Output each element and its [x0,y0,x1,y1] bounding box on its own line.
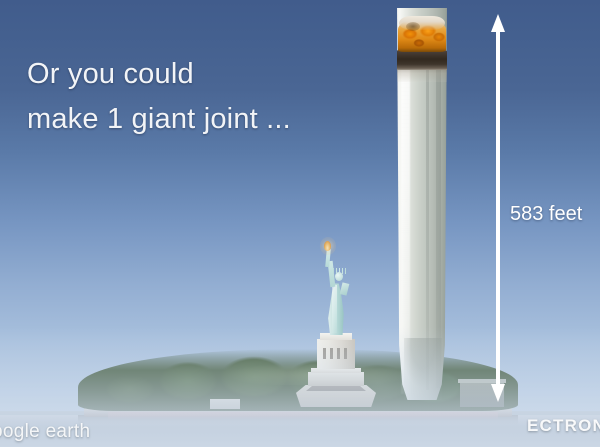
arrow-down-icon [491,384,505,402]
brand-watermark: ECTRON [527,417,600,435]
google-earth-watermark: oogle earth [0,422,90,442]
torch-flame-icon [324,241,331,251]
statue-robe-fold [332,285,337,333]
measurement-label: 583 feet [510,203,582,225]
dimension-line-icon [489,14,507,402]
dimension-line-shaft [496,24,500,392]
joint-ember-char [406,22,420,31]
caption-text: Or you could make 1 giant joint ... [27,52,291,142]
scale-comparison-image: Or you could make 1 giant joint ... 583 … [0,0,600,447]
statue-tablet [340,282,350,295]
statue-crown [332,268,346,274]
